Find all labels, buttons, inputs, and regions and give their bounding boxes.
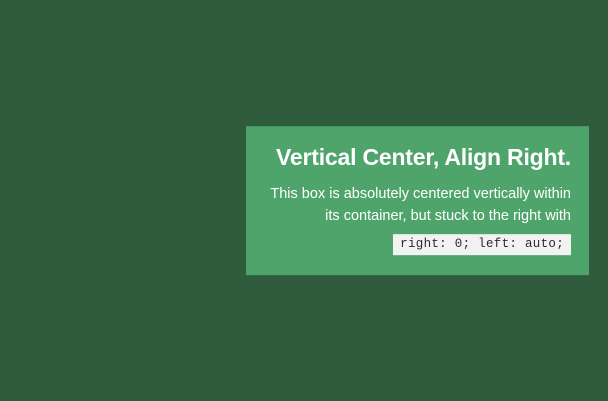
css-code-snippet: right: 0; left: auto;: [393, 234, 571, 255]
panel-heading: Vertical Center, Align Right.: [264, 144, 571, 173]
centered-right-panel: Vertical Center, Align Right. This box i…: [246, 126, 589, 276]
code-snippet-row: right: 0; left: auto;: [264, 228, 571, 255]
panel-description: This box is absolutely centered vertical…: [264, 173, 571, 229]
page-stage: Vertical Center, Align Right. This box i…: [0, 0, 608, 401]
